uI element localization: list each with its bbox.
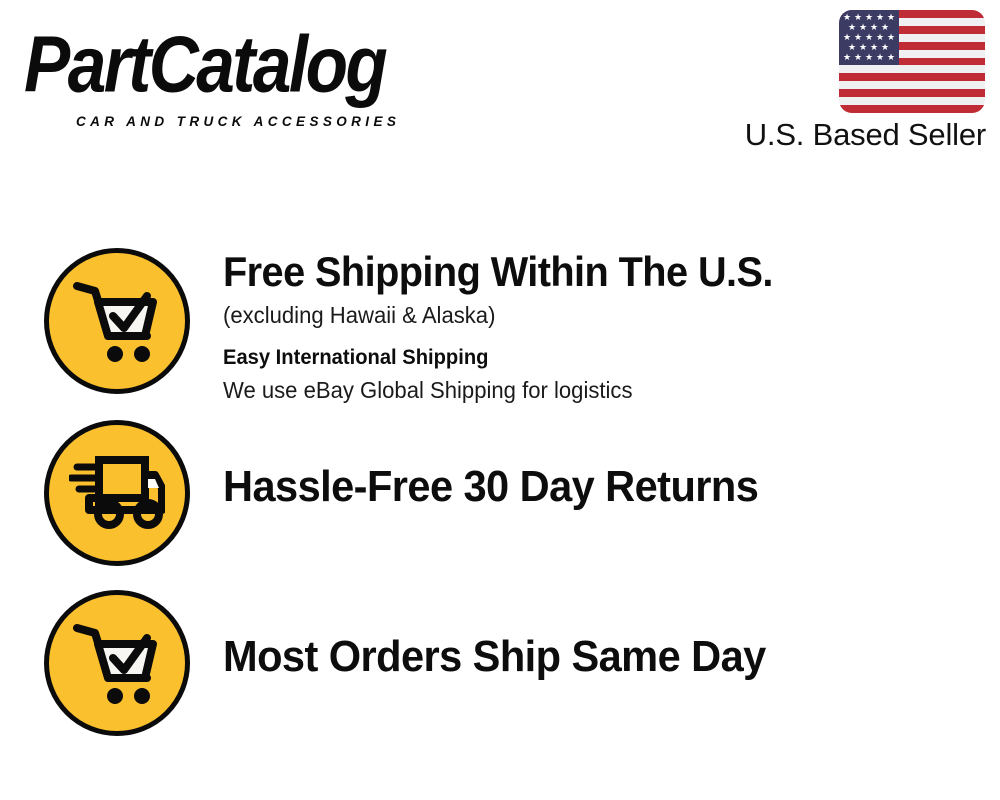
feature-title: Free Shipping Within The U.S. bbox=[223, 250, 957, 294]
us-flag-badge: ★ ★ ★ ★ ★ ★ ★ ★ ★ ★ ★ ★ ★ ★ ★ ★ ★ ★ ★ ★ bbox=[839, 10, 985, 113]
feature-row: Free Shipping Within The U.S. (excluding… bbox=[0, 248, 1000, 404]
flag-stripe bbox=[839, 89, 985, 97]
feature-row: Most Orders Ship Same Day bbox=[0, 590, 1000, 736]
feature-text-block: Free Shipping Within The U.S. (excluding… bbox=[223, 248, 1000, 404]
feature-row: Hassle-Free 30 Day Returns bbox=[0, 420, 1000, 566]
logo-tagline: CAR AND TRUCK ACCESSORIES bbox=[24, 114, 494, 129]
us-flag-icon: ★ ★ ★ ★ ★ ★ ★ ★ ★ ★ ★ ★ ★ ★ ★ ★ ★ ★ ★ ★ bbox=[839, 10, 985, 113]
logo-wordmark: PartCatalog bbox=[24, 24, 503, 104]
flag-stripe bbox=[839, 97, 985, 105]
us-based-seller-label: U.S. Based Seller bbox=[745, 117, 986, 153]
feature-secondary-subtitle: We use eBay Global Shipping for logistic… bbox=[223, 377, 969, 405]
page-header: PartCatalog CAR AND TRUCK ACCESSORIES ★ … bbox=[0, 0, 1000, 170]
feature-title: Hassle-Free 30 Day Returns bbox=[223, 464, 957, 510]
feature-text-block: Hassle-Free 30 Day Returns bbox=[223, 420, 1000, 510]
flag-stripe bbox=[839, 65, 985, 73]
feature-secondary-title: Easy International Shipping bbox=[223, 345, 969, 370]
flag-stripe bbox=[839, 105, 985, 113]
cart-check-icon bbox=[44, 248, 190, 394]
feature-subtitle: (excluding Hawaii & Alaska) bbox=[223, 301, 969, 330]
cart-check-icon bbox=[44, 590, 190, 736]
flag-stripe bbox=[839, 81, 985, 89]
flag-stripe bbox=[839, 73, 985, 81]
delivery-truck-icon bbox=[44, 420, 190, 566]
feature-title: Most Orders Ship Same Day bbox=[223, 634, 957, 680]
flag-canton: ★ ★ ★ ★ ★ ★ ★ ★ ★ ★ ★ ★ ★ ★ ★ ★ ★ ★ ★ ★ bbox=[839, 10, 899, 65]
brand-logo[interactable]: PartCatalog CAR AND TRUCK ACCESSORIES bbox=[24, 24, 494, 129]
feature-text-block: Most Orders Ship Same Day bbox=[223, 590, 1000, 680]
